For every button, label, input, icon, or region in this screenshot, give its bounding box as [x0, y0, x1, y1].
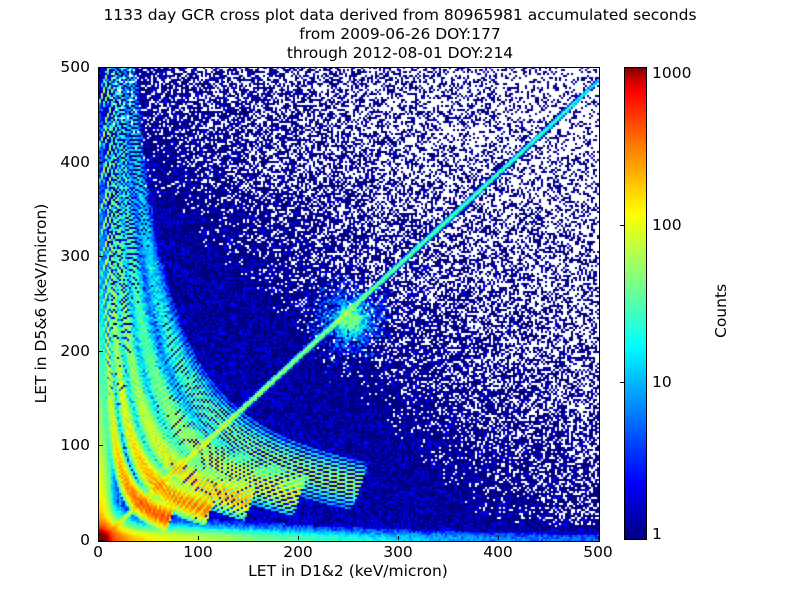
- x-tick-mark: [398, 536, 399, 540]
- x-tick-label: 300: [383, 543, 413, 561]
- title-line-2: from 2009-06-26 DOY:177: [0, 25, 800, 44]
- colorbar-tick-mark: [620, 382, 624, 383]
- y-tick-mark: [99, 67, 103, 68]
- colorbar-title: Counts: [712, 284, 730, 338]
- x-tick-label: 200: [283, 543, 313, 561]
- colorbar-tick-label: 100: [652, 216, 682, 234]
- x-tick-mark: [598, 536, 599, 540]
- chart-title: 1133 day GCR cross plot data derived fro…: [0, 6, 800, 63]
- colorbar-tick-label: 1: [652, 525, 662, 543]
- x-tick-label: 400: [483, 543, 513, 561]
- y-tick-mark: [99, 351, 103, 352]
- colorbar-tick-mark: [620, 225, 624, 226]
- title-line-1: 1133 day GCR cross plot data derived fro…: [0, 6, 800, 25]
- x-tick-label: 500: [583, 543, 613, 561]
- plot-area[interactable]: [98, 67, 600, 542]
- x-tick-mark: [198, 536, 199, 540]
- title-line-3: through 2012-08-01 DOY:214: [0, 44, 800, 63]
- y-tick-mark: [99, 445, 103, 446]
- colorbar-tick-label: 10: [652, 373, 672, 391]
- x-tick-label: 0: [93, 543, 103, 561]
- y-axis-label: LET in D5&6 (keV/micron): [32, 67, 50, 540]
- colorbar[interactable]: 1101001000: [624, 67, 647, 540]
- figure-canvas: 1133 day GCR cross plot data derived fro…: [0, 0, 800, 600]
- density-heatmap: [99, 68, 599, 541]
- y-tick-mark: [99, 256, 103, 257]
- colorbar-gradient: [624, 67, 647, 540]
- y-tick-mark: [99, 162, 103, 163]
- colorbar-tick-label: 1000: [652, 64, 691, 82]
- x-tick-mark: [498, 536, 499, 540]
- x-axis-label: LET in D1&2 (keV/micron): [98, 562, 598, 580]
- x-tick-mark: [298, 536, 299, 540]
- y-tick-mark: [99, 540, 103, 541]
- x-tick-label: 100: [183, 543, 213, 561]
